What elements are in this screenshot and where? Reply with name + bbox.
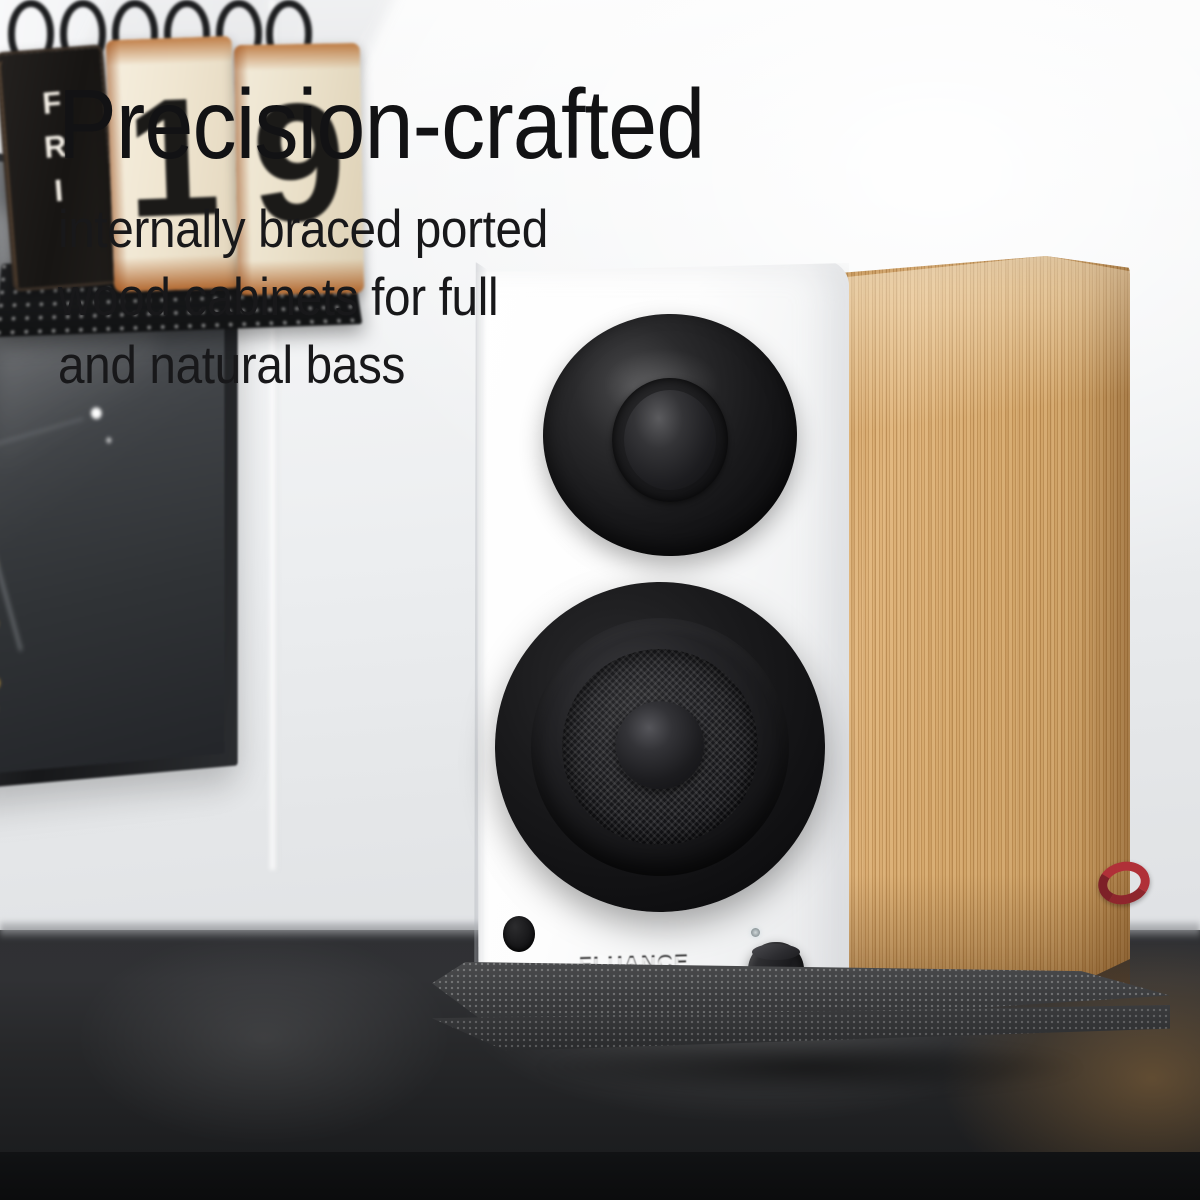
marketing-copy: Precision-crafted internally braced port…: [58, 78, 918, 400]
power-led-indicator: [751, 928, 760, 937]
page-title: Precision-crafted: [58, 78, 832, 170]
product-marketing-image: F R I 1 9: [0, 0, 1200, 1200]
tv-specular-dot: [106, 437, 111, 443]
ir-sensor-port: [503, 916, 535, 952]
subtitle-line: and natural bass: [58, 332, 832, 400]
string-lights-reflection: [0, 496, 20, 725]
subtitle-block: internally braced ported wood cabinets f…: [58, 196, 832, 399]
tweeter-dome: [623, 389, 717, 491]
tv-specular-dot: [91, 408, 102, 420]
woofer-dust-cap: [615, 700, 705, 790]
subtitle-line: internally braced ported: [58, 196, 832, 264]
desk-front-edge: [0, 1152, 1200, 1200]
acoustic-isolation-pad: [432, 962, 1170, 1082]
volume-knob-top: [752, 944, 800, 960]
woofer-surround: [529, 616, 791, 878]
subtitle-line: wood cabinets for full: [58, 264, 832, 332]
woofer-cone: [560, 647, 759, 846]
